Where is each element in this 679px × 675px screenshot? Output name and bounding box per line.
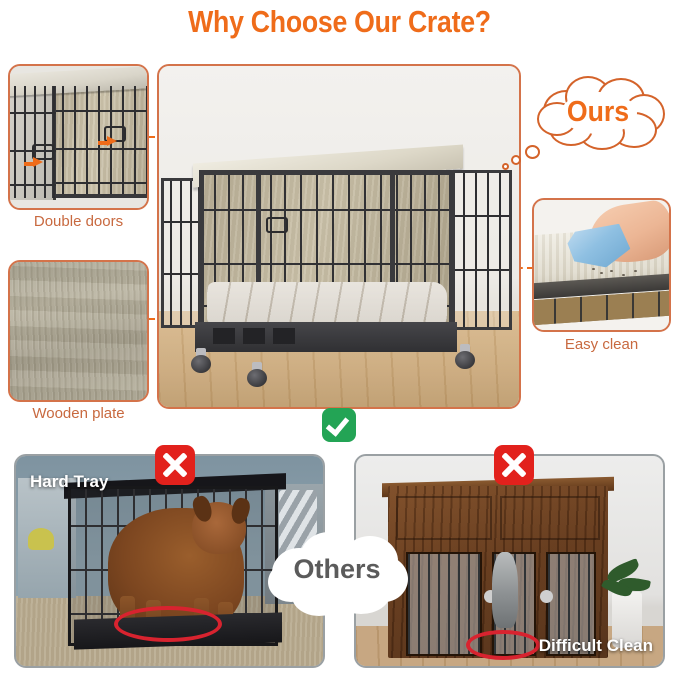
bubble-trail-medium: [525, 145, 540, 159]
crate-left-door: [161, 178, 201, 328]
caption-easy-clean: Easy clean: [532, 336, 671, 353]
red-highlight-ellipse: [466, 630, 540, 660]
page-title: Why Choose Our Crate?: [48, 4, 632, 40]
red-highlight-ellipse: [114, 606, 222, 642]
main-product-panel[interactable]: [157, 64, 521, 409]
arrow-left-icon: [33, 157, 43, 167]
crate-right-door: [452, 170, 512, 330]
red-x-badge-difficult-clean: [494, 445, 534, 485]
arrow-right-icon: [107, 136, 117, 146]
crate-latch-upper: [266, 217, 288, 233]
left-door-mesh: [10, 86, 56, 198]
red-x-badge-hard-tray: [155, 445, 195, 485]
bubble-trail-tiny: [502, 163, 509, 170]
feature-panel-wooden-plate[interactable]: [8, 260, 149, 402]
double-doors-photo: [10, 66, 147, 208]
bubble-trail-small: [511, 155, 521, 165]
caster-wheel-front-center: [247, 362, 267, 386]
check-icon: [326, 412, 349, 436]
wooden-plate-photo: [10, 262, 147, 400]
easy-clean-photo: [534, 200, 669, 330]
ours-bubble-label: Ours: [533, 96, 664, 129]
feature-panel-double-doors[interactable]: [8, 64, 149, 210]
others-bubble-label: Others: [262, 554, 412, 585]
feature-panel-easy-clean[interactable]: [532, 198, 671, 332]
caption-double-doors: Double doors: [8, 213, 149, 230]
ours-crate-photo: [159, 66, 519, 407]
plant-decor: [28, 528, 54, 550]
caster-wheel-left: [191, 348, 211, 372]
caption-wooden-plate: Wooden plate: [8, 405, 149, 422]
difficult-clean-label: Difficult Clean: [539, 636, 653, 656]
arrow-right-tail: [98, 141, 107, 145]
green-check-badge: [322, 408, 356, 442]
dog-inside-crate: [492, 552, 518, 628]
crate-base-frame: [195, 322, 457, 352]
caster-wheel-right: [455, 344, 475, 368]
ours-thought-bubble: Ours: [527, 74, 669, 152]
arrow-left-tail: [24, 162, 33, 166]
hard-tray-label: Hard Tray: [30, 472, 108, 492]
others-thought-bubble: Others: [262, 528, 412, 616]
crate-cushion: [207, 282, 447, 324]
